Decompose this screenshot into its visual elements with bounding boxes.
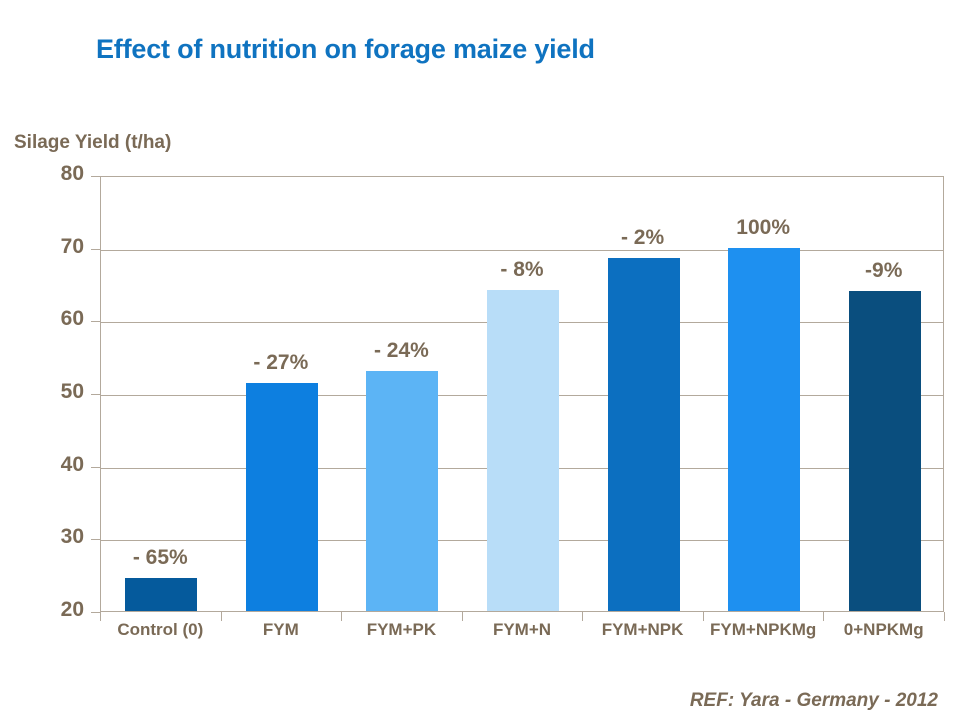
y-axis-tick-label: 40	[24, 453, 84, 477]
y-axis-tick-label: 50	[24, 380, 84, 404]
gridline	[101, 250, 943, 251]
page-title: Effect of nutrition on forage maize yiel…	[96, 34, 595, 65]
y-axis-tick-mark	[91, 612, 100, 613]
bar[interactable]	[487, 290, 559, 611]
y-axis-tick-mark	[91, 467, 100, 468]
bar-value-label: -9%	[814, 259, 954, 283]
reference-footer: REF: Yara - Germany - 2012	[690, 690, 938, 712]
y-axis-tick-mark	[91, 176, 100, 177]
bar-value-label: 100%	[693, 216, 833, 240]
bar-value-label: - 2%	[573, 226, 713, 250]
bar-value-label: - 8%	[452, 258, 592, 282]
bar[interactable]	[608, 258, 680, 611]
y-axis-tick-mark	[91, 321, 100, 322]
y-axis-tick-label: 30	[24, 525, 84, 549]
bar[interactable]	[366, 371, 438, 611]
x-axis-category-label: 0+NPKMg	[804, 620, 960, 640]
bar[interactable]	[246, 383, 318, 611]
bar[interactable]	[728, 248, 800, 611]
bar[interactable]	[125, 578, 197, 611]
bar[interactable]	[849, 291, 921, 611]
bar-value-label: - 27%	[211, 351, 351, 375]
y-axis-tick-label: 70	[24, 235, 84, 259]
bar-value-label: - 65%	[90, 546, 230, 570]
y-axis-tick-label: 20	[24, 598, 84, 622]
y-axis-title: Silage Yield (t/ha)	[14, 132, 171, 154]
y-axis-tick-label: 60	[24, 307, 84, 331]
y-axis-tick-mark	[91, 249, 100, 250]
y-axis-tick-mark	[91, 539, 100, 540]
y-axis-tick-mark	[91, 394, 100, 395]
y-axis-tick-label: 80	[24, 162, 84, 186]
bar-value-label: - 24%	[331, 339, 471, 363]
